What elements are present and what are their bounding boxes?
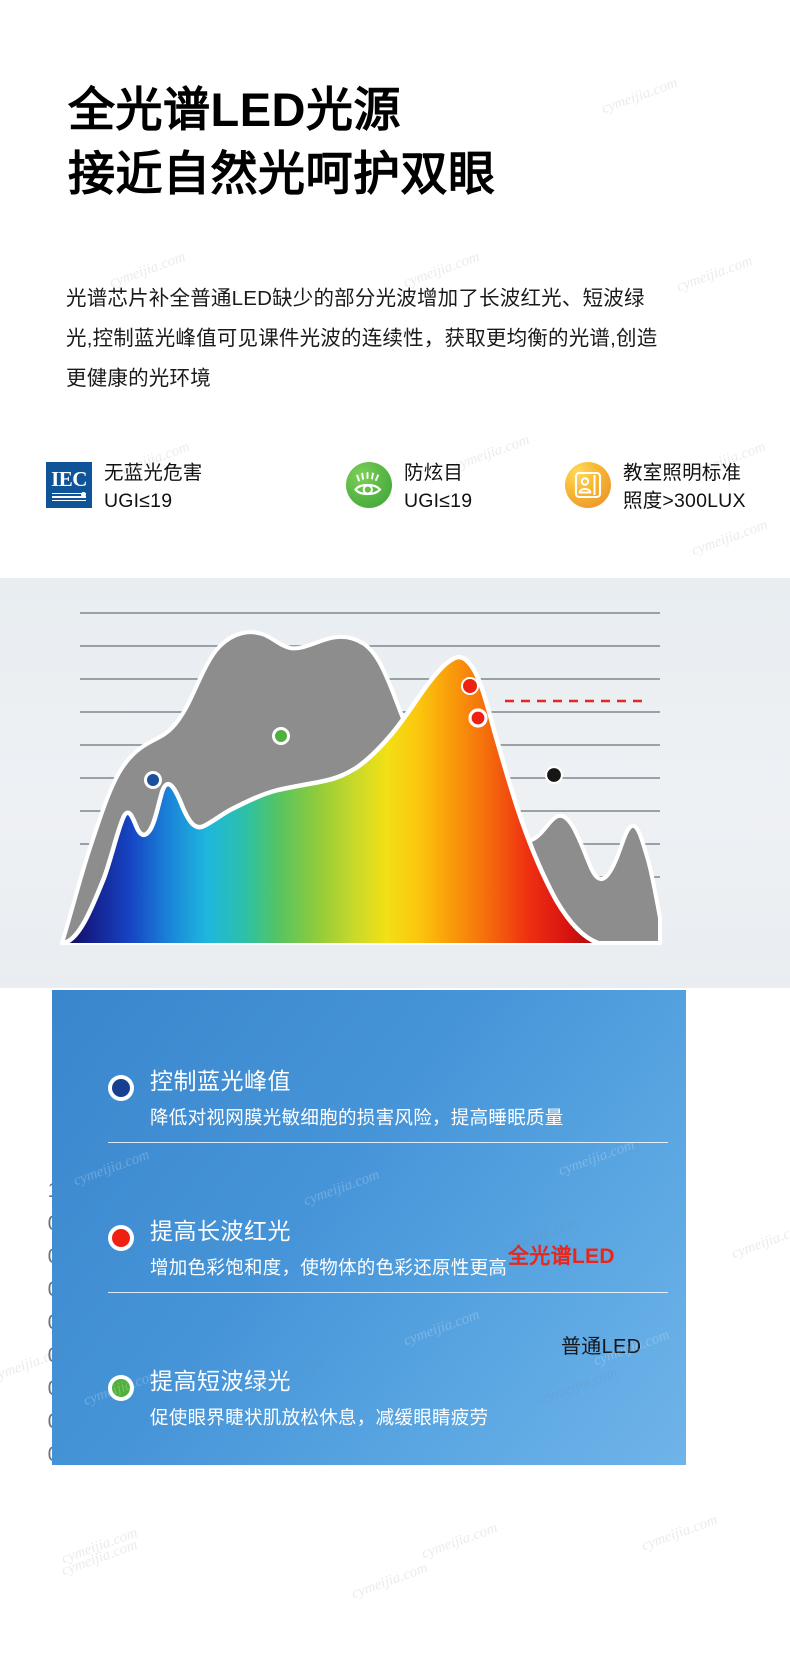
bullet-icon [108, 1225, 134, 1251]
green-peak-marker [274, 729, 289, 744]
card-divider [108, 1292, 668, 1293]
watermark: cymeijia.com [729, 1220, 790, 1263]
benefit-item-green-light: 提高短波绿光 促使眼界睫状肌放松休息，减缓眼睛疲劳 [108, 1368, 668, 1429]
red-peak-marker-2 [470, 710, 486, 726]
watermark: cymeijia.com [71, 1147, 152, 1190]
red-peak-marker-1 [462, 678, 478, 694]
card-divider [108, 1142, 668, 1143]
badge-label: 防炫目 UGI≤19 [404, 460, 472, 515]
benefit-description: 降低对视网膜光敏细胞的损害风险，提高睡眠质量 [150, 1106, 564, 1129]
page-title: 全光谱LED光源 接近自然光呵护双眼 [68, 78, 496, 207]
benefit-item-blue-peak: 控制蓝光峰值 降低对视网膜光敏细胞的损害风险，提高睡眠质量 [108, 1068, 668, 1129]
watermark: cymeijia.com [599, 75, 680, 118]
benefits-card: 控制蓝光峰值 降低对视网膜光敏细胞的损害风险，提高睡眠质量 提高长波红光 增加色… [52, 990, 686, 1465]
black-marker [546, 767, 562, 783]
classroom-lighting-icon [565, 462, 611, 508]
certification-badges: IEC 无蓝光危害 UGI≤19 [46, 460, 746, 538]
product-detail-page: 全光谱LED光源 接近自然光呵护双眼 光谱芯片补全普通LED缺少的部分光波增加了… [0, 0, 790, 1663]
anti-glare-eye-icon [346, 462, 392, 508]
hero-section: 全光谱LED光源 接近自然光呵护双眼 光谱芯片补全普通LED缺少的部分光波增加了… [0, 0, 790, 578]
benefit-title: 提高长波红光 [150, 1218, 507, 1246]
badge-label: 教室照明标准 照度>300LUX [623, 460, 746, 515]
hero-description: 光谱芯片补全普通LED缺少的部分光波增加了长波红光、短波绿光,控制蓝光峰值可见课… [66, 279, 666, 399]
watermark: cymeijia.com [674, 253, 755, 296]
spectrum-chart [0, 578, 790, 988]
watermark: cymeijia.com [59, 1537, 140, 1580]
badge-classroom-standard: 教室照明标准 照度>300LUX [565, 460, 746, 515]
watermark: cymeijia.com [349, 1560, 430, 1603]
iec-certification-icon: IEC [46, 462, 92, 508]
watermark: cymeijia.com [301, 1167, 382, 1210]
badge-label: 无蓝光危害 UGI≤19 [104, 460, 203, 515]
spectrum-chart-section: 10 09 08 07 06 05 04 03 02 01 00 全光谱LED … [0, 578, 790, 988]
benefit-description: 促使眼界睫状肌放松休息，减缓眼睛疲劳 [150, 1406, 488, 1429]
badge-anti-glare: 防炫目 UGI≤19 [346, 460, 472, 515]
badge-no-blue-light-hazard: IEC 无蓝光危害 UGI≤19 [46, 460, 203, 515]
blue-peak-marker [146, 773, 161, 788]
watermark: cymeijia.com [556, 1137, 637, 1180]
legend-full-spectrum-led: 全光谱LED [508, 1240, 615, 1270]
watermark: cymeijia.com [639, 1512, 720, 1555]
benefit-description: 增加色彩饱和度，使物体的色彩还原性更高 [150, 1256, 507, 1279]
bullet-icon [108, 1075, 134, 1101]
watermark: cymeijia.com [401, 1307, 482, 1350]
benefit-title: 提高短波绿光 [150, 1368, 488, 1396]
legend-ordinary-led: 普通LED [561, 1330, 641, 1359]
benefit-title: 控制蓝光峰值 [150, 1068, 564, 1096]
footer-spacer: cymeijia.com cymeijia.com cymeijia.com [0, 1465, 790, 1663]
bullet-icon [108, 1375, 134, 1401]
